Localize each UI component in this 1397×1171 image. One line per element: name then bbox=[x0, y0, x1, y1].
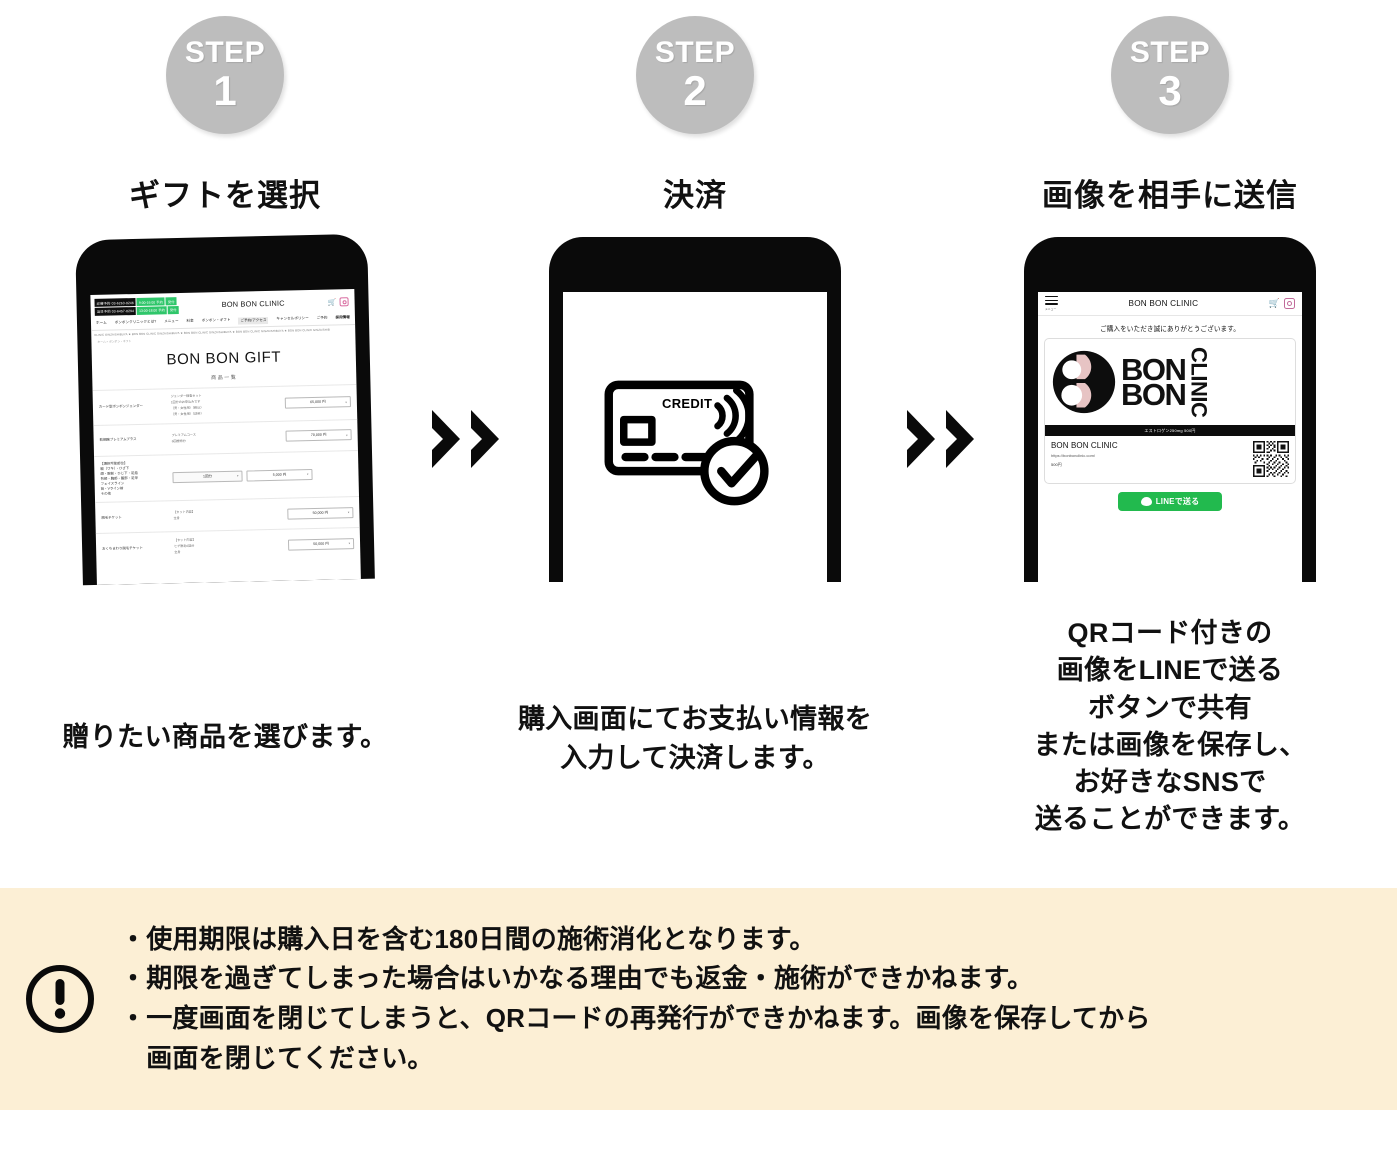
reservation-badges: 診療予約 03-6263-0246 9:00-19:00 予約 受付 当日予約 … bbox=[94, 297, 178, 315]
phone-mockup-3: メニュー BON BON CLINIC 🛒 ご購入をいただき誠にありがとうござい… bbox=[955, 237, 1385, 587]
hamburger-menu-icon[interactable]: メニュー bbox=[1045, 296, 1058, 312]
product-name: カード型ボンボンジェンダー bbox=[99, 404, 167, 411]
product-row: 【選択可能部位】 脇（ワキ）・ひざ下 顔・腕前・ひじ下・足指 背部・胸部・腹部・… bbox=[94, 449, 359, 502]
nav-item-recruit[interactable]: 採用情報 bbox=[335, 315, 350, 322]
card-info-text: BON BON CLINIC https://bonbonclinic.com/… bbox=[1051, 441, 1253, 468]
gift-card: BON BON CLINIC エストロゲン250mg 500円 BON BON … bbox=[1044, 338, 1296, 484]
card-info: BON BON CLINIC https://bonbonclinic.com/… bbox=[1045, 436, 1295, 483]
step-caption-2: 購入画面にてお支払い情報を 入力して決済します。 bbox=[470, 700, 920, 778]
card-price: 500円 bbox=[1051, 462, 1253, 468]
step-title-2: 決済 bbox=[480, 170, 910, 215]
step-badge-2: STEP 2 bbox=[636, 16, 754, 134]
nav-item-price[interactable]: 料金 bbox=[186, 318, 193, 325]
step-guide-infographic: STEP 1 ギフトを選択 診療予約 03-6263-0246 9:00-19:… bbox=[0, 0, 1397, 1171]
product-name: おくちまわり脱毛チケット bbox=[102, 545, 170, 552]
product-name: 【選択可能部位】 脇（ワキ）・ひざ下 顔・腕前・ひじ下・足指 背部・胸部・腹部・… bbox=[100, 460, 169, 497]
app-brand: BON BON CLINIC bbox=[1058, 299, 1269, 308]
app-header: メニュー BON BON CLINIC 🛒 bbox=[1038, 292, 1302, 316]
double-chevron-right-icon bbox=[469, 408, 502, 470]
step-badge-number-2: 2 bbox=[683, 70, 706, 112]
brand-logo: BON BON CLINIC bbox=[1045, 339, 1295, 425]
send-via-line-label: LINEで送る bbox=[1156, 496, 1200, 507]
phone-number-badge: 当日予約 03-6457-0294 bbox=[95, 307, 136, 316]
step-badge-word-2: STEP bbox=[655, 38, 735, 68]
page-title: BON BON GIFT bbox=[92, 347, 356, 370]
logo-clinic-text: CLINIC bbox=[1187, 347, 1209, 417]
product-description: 【セット内容】 ヒゲ脱毛6回分 全身 bbox=[174, 536, 284, 556]
exclamation-circle-icon bbox=[0, 962, 120, 1036]
line-bubble-icon bbox=[1141, 497, 1152, 506]
logo-line-2: BON bbox=[1121, 382, 1185, 407]
phone-mockup-2: CREDIT bbox=[480, 237, 910, 587]
qr-code bbox=[1253, 441, 1289, 477]
warning-line: ・一度画面を閉じてしまうと、QRコードの再発行ができかねます。画像を保存してから… bbox=[120, 999, 1357, 1078]
reservation-badge-row: 当日予約 03-6457-0294 13:00-18:00 予約 受付 bbox=[95, 306, 179, 316]
phone-frame-1: 診療予約 03-6263-0246 9:00-19:00 予約 受付 当日予約 … bbox=[75, 234, 375, 586]
instagram-icon[interactable] bbox=[1284, 298, 1295, 309]
send-via-line-button[interactable]: LINEで送る bbox=[1118, 492, 1222, 511]
phone-screen-2: CREDIT bbox=[563, 292, 827, 582]
step-badge-number-3: 3 bbox=[1158, 70, 1181, 112]
product-name: 脱毛チケット bbox=[101, 514, 169, 521]
header-icons: 🛒 bbox=[1269, 298, 1295, 309]
nav-item-home[interactable]: ホーム bbox=[96, 320, 107, 327]
accept-badge: 受付 bbox=[168, 306, 179, 314]
header-icons: 🛒 bbox=[328, 297, 351, 307]
step-title-3: 画像を相手に送信 bbox=[955, 170, 1385, 215]
double-chevron-right-icon bbox=[944, 408, 977, 470]
phone-mockup-1: 診療予約 03-6263-0246 9:00-19:00 予約 受付 当日予約 … bbox=[10, 237, 440, 587]
double-chevron-right-icon bbox=[905, 408, 938, 470]
phone-screen-1: 診療予約 03-6263-0246 9:00-19:00 予約 受付 当日予約 … bbox=[90, 289, 361, 585]
phone-frame-2: CREDIT bbox=[549, 237, 841, 582]
step-badge-3: STEP 3 bbox=[1111, 16, 1229, 134]
site-brand: BON BON CLINIC bbox=[178, 298, 328, 310]
nav-item-reserve[interactable]: ご予約 bbox=[317, 315, 328, 322]
product-quantity-select[interactable]: 1回分 bbox=[172, 470, 242, 483]
warning-list: ・使用期限は購入日を含む180日間の施術消化となります。 ・期限を過ぎてしまった… bbox=[120, 920, 1397, 1078]
warning-line: ・使用期限は購入日を含む180日間の施術消化となります。 bbox=[120, 920, 1357, 960]
product-band-label: エストロゲン250mg 500円 bbox=[1045, 425, 1295, 436]
product-price-select[interactable]: 70,000 円 bbox=[285, 429, 351, 441]
warning-panel: ・使用期限は購入日を含む180日間の施術消化となります。 ・期限を過ぎてしまった… bbox=[0, 888, 1397, 1110]
credit-card-icon: CREDIT bbox=[600, 368, 790, 518]
nav-item-reservation-access[interactable]: ご予約/アクセス bbox=[238, 316, 268, 324]
nav-item-about[interactable]: ボンボンクリニックとは? bbox=[115, 319, 157, 327]
product-price-select[interactable]: 50,000 円 bbox=[288, 538, 354, 550]
product-description: ジェンダー検査セット 1回分のお申込みです （男・女性用）（税込） （男・女性用… bbox=[171, 392, 282, 418]
nav-item-cancel-policy[interactable]: キャンセルポリシー bbox=[276, 316, 308, 324]
product-price-select[interactable]: 5,000 円 bbox=[246, 469, 312, 481]
product-name: 幹細胞プレミアムプラス bbox=[100, 436, 168, 443]
phone-number-badge: 診療予約 03-6263-0246 bbox=[94, 298, 135, 307]
step-caption-3: QRコード付きの 画像をLINEで送る ボタンで共有 または画像を保存し、 お好… bbox=[950, 615, 1390, 839]
step-badge-1: STEP 1 bbox=[166, 16, 284, 134]
clinic-name: BON BON CLINIC bbox=[1051, 441, 1253, 450]
product-price-select[interactable]: 65,000 円 bbox=[285, 396, 351, 408]
clinic-url: https://bonbonclinic.com/ bbox=[1051, 453, 1253, 458]
hours-badge: 13:00-18:00 予約 bbox=[137, 306, 167, 314]
double-chevron-right-icon bbox=[430, 408, 463, 470]
cart-icon[interactable]: 🛒 bbox=[328, 298, 337, 306]
product-row: おくちまわり脱毛チケット 【セット内容】 ヒゲ脱毛6回分 全身 50,000 円 bbox=[96, 527, 361, 564]
phone-screen-3: メニュー BON BON CLINIC 🛒 ご購入をいただき誠にありがとうござい… bbox=[1038, 292, 1302, 582]
step-arrow-2-to-3 bbox=[905, 408, 977, 470]
thankyou-message: ご購入をいただき誠にありがとうございます。 bbox=[1038, 316, 1302, 338]
step-badge-word-3: STEP bbox=[1130, 38, 1210, 68]
menu-label: メニュー bbox=[1045, 307, 1058, 311]
instagram-icon[interactable] bbox=[339, 297, 348, 306]
product-description: プレミアムコース 6回施術分 bbox=[172, 430, 282, 444]
step-badge-number-1: 1 bbox=[213, 70, 236, 112]
product-price-select[interactable]: 50,000 円 bbox=[287, 507, 353, 519]
accept-badge: 受付 bbox=[166, 297, 177, 305]
nav-item-menu[interactable]: メニュー bbox=[164, 319, 179, 326]
nav-item-gift[interactable]: ボンボン・ギフト bbox=[202, 317, 231, 325]
page-subtitle: 商品一覧 bbox=[92, 371, 356, 384]
hours-badge: 9:00-19:00 予約 bbox=[137, 298, 165, 306]
credit-card-label: CREDIT bbox=[662, 396, 712, 411]
step-caption-1: 贈りたい商品を選びます。 bbox=[10, 718, 440, 757]
product-description: 【セット内容】 全身 bbox=[173, 508, 283, 522]
bbc-monogram-icon bbox=[1051, 349, 1117, 415]
step-badge-word-1: STEP bbox=[185, 38, 265, 68]
cart-icon[interactable]: 🛒 bbox=[1269, 298, 1280, 309]
step-arrow-1-to-2 bbox=[430, 408, 502, 470]
step-title-1: ギフトを選択 bbox=[10, 170, 440, 215]
phone-frame-3: メニュー BON BON CLINIC 🛒 ご購入をいただき誠にありがとうござい… bbox=[1024, 237, 1316, 582]
warning-line: ・期限を過ぎてしまった場合はいかなる理由でも返金・施術ができかねます。 bbox=[120, 959, 1357, 999]
